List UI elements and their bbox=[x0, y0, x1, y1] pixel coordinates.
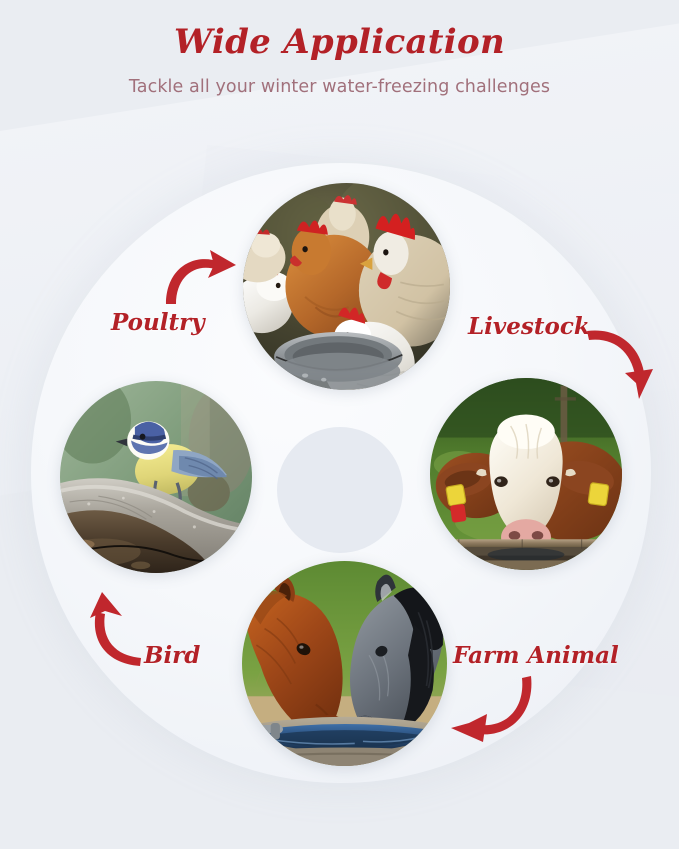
photo-poultry bbox=[243, 183, 450, 390]
label-bird: Bird bbox=[144, 642, 200, 669]
page-subtitle: Tackle all your winter water-freezing ch… bbox=[0, 77, 679, 97]
label-livestock: Livestock bbox=[468, 313, 590, 340]
photo-livestock bbox=[430, 378, 622, 570]
curved-arrow-right-icon bbox=[160, 248, 240, 310]
page-title: Wide Application bbox=[0, 24, 679, 61]
header: Wide Application Tackle all your winter … bbox=[0, 0, 679, 97]
curved-arrow-down-left-icon bbox=[443, 672, 535, 746]
photo-bird bbox=[60, 381, 252, 573]
center-hub-circle bbox=[277, 427, 403, 553]
curved-arrow-down-right-icon bbox=[585, 325, 657, 403]
label-farm-animal: Farm Animal bbox=[453, 642, 619, 669]
curved-arrow-up-left-icon bbox=[88, 592, 150, 668]
label-poultry: Poultry bbox=[111, 309, 205, 336]
infographic-stage: Wide Application Tackle all your winter … bbox=[0, 0, 679, 849]
photo-farm-animal bbox=[242, 561, 447, 766]
